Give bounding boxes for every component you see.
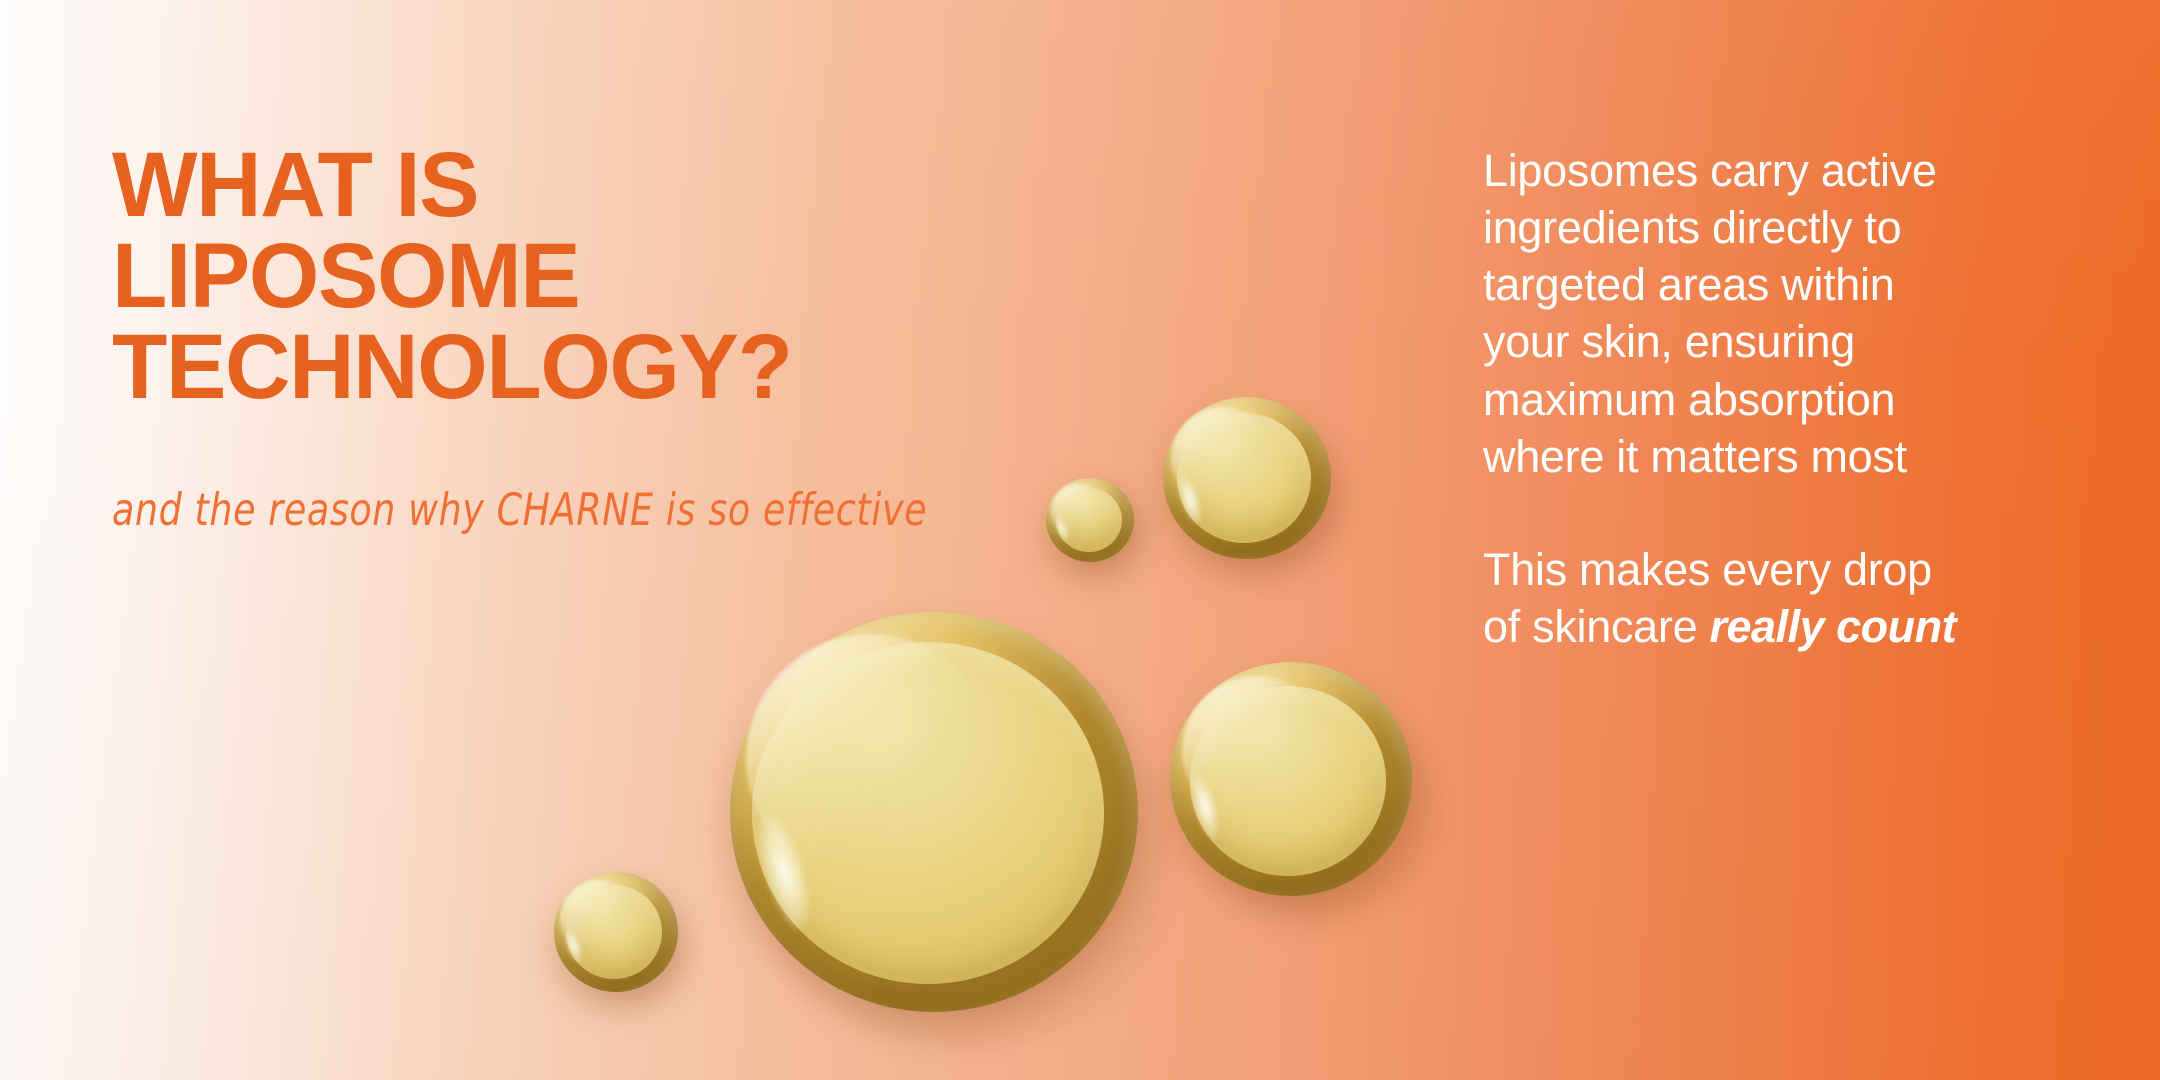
droplet-large	[730, 612, 1138, 1012]
droplet-shadow	[566, 886, 694, 1008]
page-title: WHAT IS LIPOSOME TECHNOLOGY?	[112, 140, 979, 413]
droplet-gel-ring	[730, 612, 1138, 1012]
body-paragraph-secondary: This makes every drop of skincare really…	[1483, 541, 2083, 655]
droplet-core	[1190, 686, 1386, 876]
droplet-shadow	[1056, 488, 1148, 576]
droplet-core	[566, 885, 662, 979]
droplet-small-left	[554, 872, 678, 992]
left-text-column: WHAT IS LIPOSOME TECHNOLOGY? and the rea…	[112, 140, 992, 517]
droplet-rim-highlight	[746, 634, 996, 884]
droplet-glint	[748, 809, 820, 935]
liposome-technology-banner: WHAT IS LIPOSOME TECHNOLOGY? and the rea…	[0, 0, 2160, 1080]
body-paragraph-emphasis: really count	[1710, 601, 1957, 652]
droplet-upper-right	[1163, 397, 1331, 559]
droplet-core	[1177, 413, 1311, 543]
droplet-glint	[1174, 473, 1207, 526]
droplet-glint	[562, 927, 585, 965]
droplet-gel-ring	[554, 872, 678, 992]
droplet-shadow	[1177, 415, 1353, 581]
droplet-small-mid	[1046, 478, 1134, 562]
droplet-gel-ring	[1170, 662, 1412, 896]
droplet-core	[752, 642, 1104, 984]
droplet-rim-highlight	[1171, 407, 1275, 511]
droplet-glint	[1053, 515, 1071, 543]
droplet-gel-ring	[1046, 478, 1134, 562]
droplet-core	[1056, 488, 1122, 552]
body-paragraph-primary: Liposomes carry active ingredients direc…	[1483, 142, 2083, 485]
right-text-column: Liposomes carry active ingredients direc…	[1483, 142, 2083, 655]
droplet-glint	[1185, 772, 1224, 842]
droplet-shadow	[752, 652, 1172, 1052]
droplet-lower-right	[1170, 662, 1412, 896]
droplet-rim-highlight	[1182, 676, 1332, 826]
droplet-rim-highlight	[1051, 484, 1105, 538]
page-subtitle: and the reason why CHARNE is so effectiv…	[112, 413, 957, 535]
droplet-shadow	[1190, 688, 1442, 926]
droplet-rim-highlight	[560, 880, 638, 958]
droplet-gel-ring	[1163, 397, 1331, 559]
